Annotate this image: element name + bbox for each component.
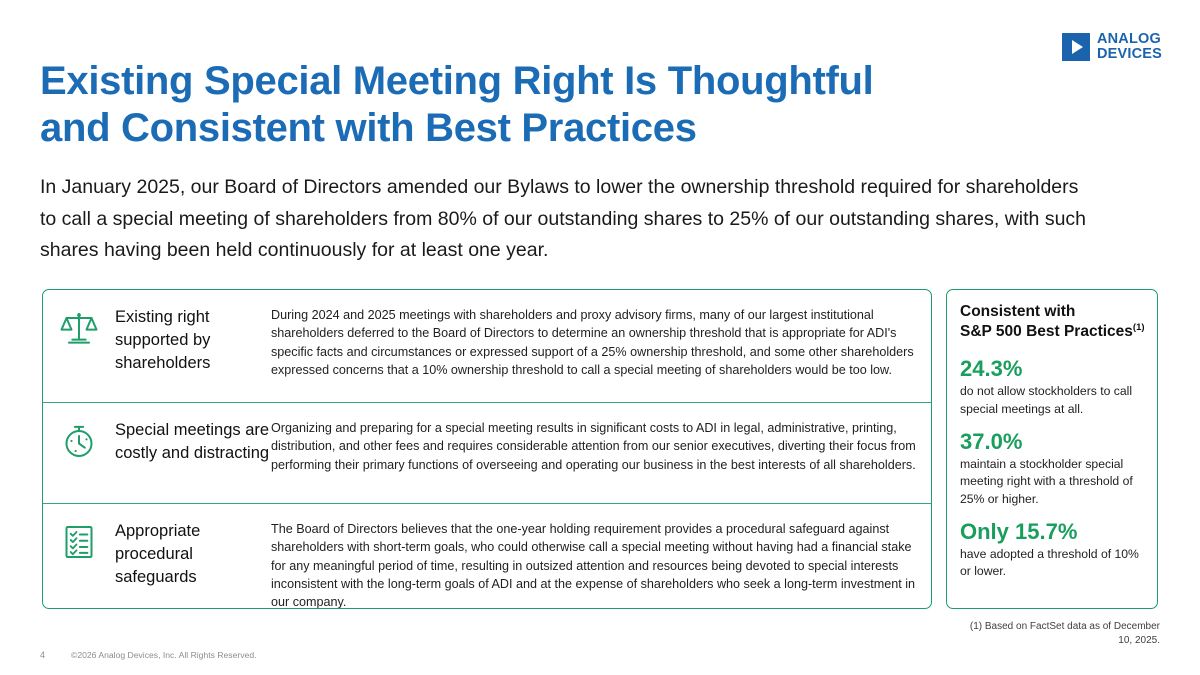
logo-wordmark: ANALOG DEVICES xyxy=(1097,32,1162,62)
scales-of-justice-icon xyxy=(43,300,115,394)
stat-description: maintain a stockholder special meeting r… xyxy=(960,456,1145,508)
stat-value: 24.3% xyxy=(960,356,1145,382)
stats-heading-line-1: Consistent with xyxy=(960,303,1075,320)
stat-item: 24.3% do not allow stockholders to call … xyxy=(960,356,1145,418)
stat-description: do not allow stockholders to call specia… xyxy=(960,383,1145,418)
stat-description: have adopted a threshold of 10% or lower… xyxy=(960,546,1145,581)
lead-paragraph: In January 2025, our Board of Directors … xyxy=(40,172,1100,267)
play-triangle-icon xyxy=(1062,33,1090,61)
row-body: The Board of Directors believes that the… xyxy=(271,514,931,598)
page-title: Existing Special Meeting Right Is Though… xyxy=(40,58,920,152)
stats-panel-heading: Consistent with S&P 500 Best Practices(1… xyxy=(960,302,1145,342)
table-row: Appropriate procedural safeguards The Bo… xyxy=(43,503,931,606)
row-label: Appropriate procedural safeguards xyxy=(115,514,271,598)
row-body: During 2024 and 2025 meetings with share… xyxy=(271,300,931,394)
checklist-icon xyxy=(43,514,115,598)
stats-panel: Consistent with S&P 500 Best Practices(1… xyxy=(946,289,1158,609)
logo-line-1: ANALOG xyxy=(1097,32,1162,47)
reasons-table: Existing right supported by shareholders… xyxy=(42,289,932,609)
logo-line-2: DEVICES xyxy=(1097,47,1162,62)
stat-item: 37.0% maintain a stockholder special mee… xyxy=(960,429,1145,508)
table-row: Existing right supported by shareholders… xyxy=(43,290,931,402)
stopwatch-icon xyxy=(43,413,115,495)
page-title-line-1: Existing Special Meeting Right Is Though… xyxy=(40,59,873,103)
table-row: Special meetings are costly and distract… xyxy=(43,402,931,503)
row-body: Organizing and preparing for a special m… xyxy=(271,413,931,495)
row-label: Special meetings are costly and distract… xyxy=(115,413,271,495)
page-number: 4 xyxy=(40,650,45,660)
stat-item: Only 15.7% have adopted a threshold of 1… xyxy=(960,519,1145,581)
slide-footer: 4 ©2026 Analog Devices, Inc. All Rights … xyxy=(40,650,256,660)
page-title-line-2: and Consistent with Best Practices xyxy=(40,105,920,152)
stats-heading-line-2: S&P 500 Best Practices xyxy=(960,323,1133,340)
footnote-marker: (1) xyxy=(1133,322,1145,333)
analog-devices-logo: ANALOG DEVICES xyxy=(1062,32,1162,62)
stat-value: Only 15.7% xyxy=(960,519,1145,545)
source-footnote: (1) Based on FactSet data as of December… xyxy=(960,620,1160,648)
row-label: Existing right supported by shareholders xyxy=(115,300,271,394)
slide-root: ANALOG DEVICES Existing Special Meeting … xyxy=(0,0,1200,675)
copyright-text: ©2026 Analog Devices, Inc. All Rights Re… xyxy=(71,650,256,660)
stat-value: 37.0% xyxy=(960,429,1145,455)
